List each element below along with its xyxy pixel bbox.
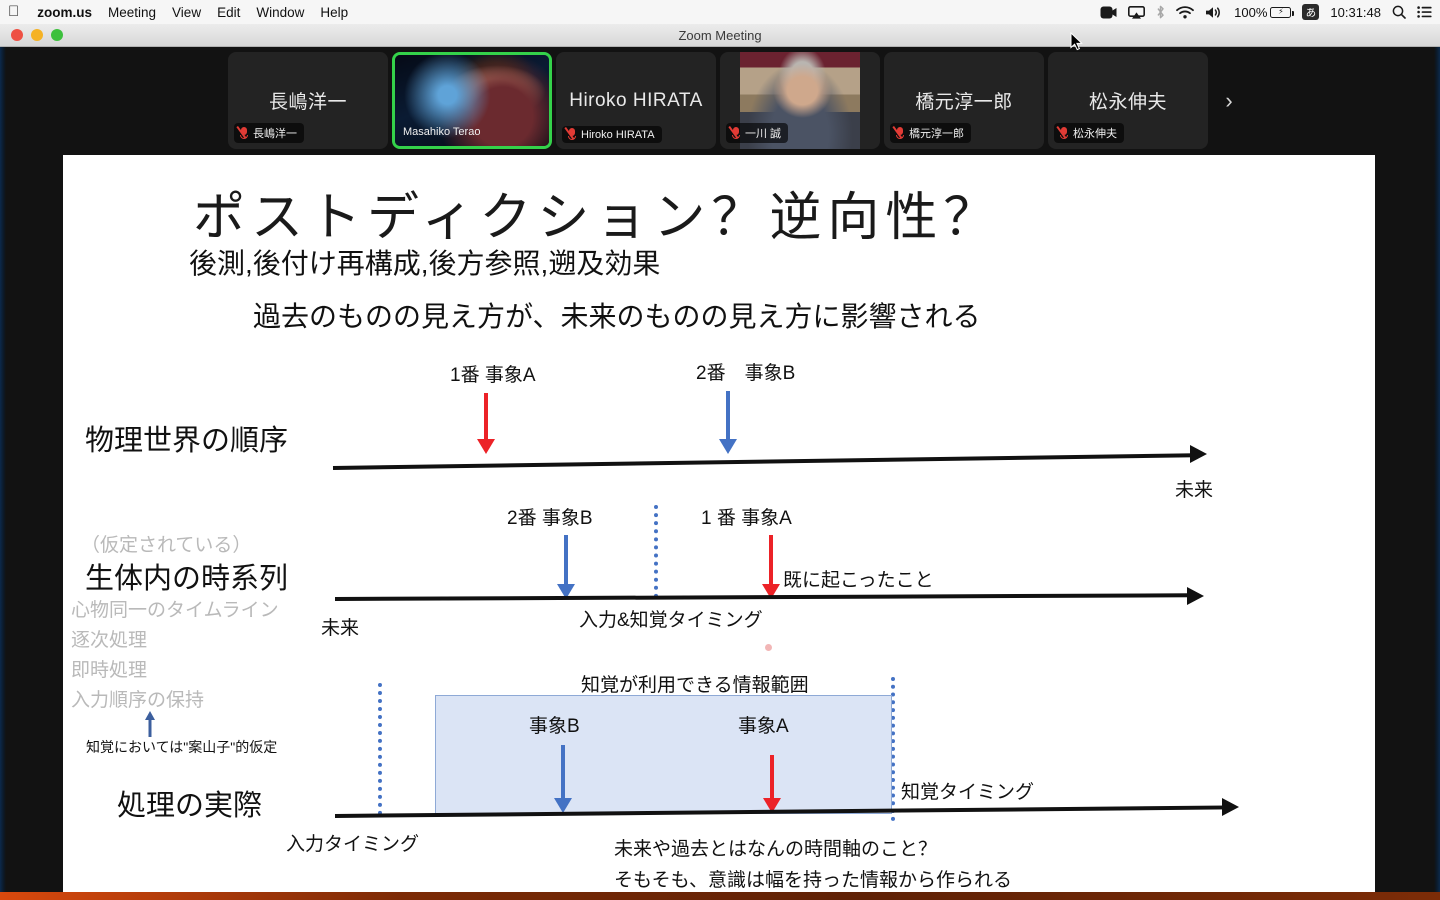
apple-logo-icon[interactable]:  <box>8 4 19 19</box>
close-window-button[interactable] <box>11 29 23 41</box>
section3-information-range-box <box>435 695 892 814</box>
section3-note-line-1: 未来や過去とはなんの時間軸のこと？ <box>614 834 937 861</box>
section1-time-axis <box>333 453 1195 470</box>
filmstrip-next-arrow-icon[interactable]: › <box>1212 52 1246 149</box>
mic-muted-icon <box>731 127 740 140</box>
section3-note-line-2: そもそも、意識は幅を持った情報から作られる <box>614 865 1012 892</box>
minimize-window-button[interactable] <box>31 29 43 41</box>
mic-muted-icon <box>239 127 248 140</box>
window-traffic-lights <box>11 29 63 41</box>
ime-indicator[interactable]: あ <box>1302 4 1319 20</box>
participant-display-name: 橋元淳一郎 <box>909 87 1019 114</box>
participant-tile-hashimoto[interactable]: 橋元淳一郎 橋元淳一郎 <box>884 52 1044 149</box>
participant-name-badge: 一川 誠 <box>726 123 788 143</box>
section3-event-a-label: 事象A <box>738 711 789 738</box>
section3-event-b-arrow <box>554 745 572 815</box>
section2-event-a-label: 1 番 事象A <box>701 503 792 530</box>
participant-badge-name: 一川 誠 <box>745 125 781 141</box>
right-edge-glow <box>1434 47 1440 892</box>
menu-item-view[interactable]: View <box>172 5 201 20</box>
menu-item-window[interactable]: Window <box>256 5 304 20</box>
section3-event-a-arrow <box>763 755 781 815</box>
participant-name-badge: 橋元淳一郎 <box>890 123 971 143</box>
section3-range-label: 知覚が利用できる情報範囲 <box>581 670 809 697</box>
battery-charging-icon: ⚡ <box>1270 7 1291 18</box>
menu-item-edit[interactable]: Edit <box>217 5 240 20</box>
window-title-bar: Zoom Meeting <box>0 24 1440 47</box>
section2-timing-label: 入力&知覚タイミング <box>579 605 763 632</box>
participant-tile-terao[interactable]: Masahiko Terao <box>392 52 552 149</box>
section1-label: 物理世界の順序 <box>85 417 288 459</box>
section1-event-a-label: 1番 事象A <box>450 360 536 387</box>
participant-badge-name: Hiroko HIRATA <box>581 129 655 141</box>
section2-assumed-note: （仮定されている） <box>81 530 251 557</box>
section3-input-timing-label: 入力タイミング <box>286 829 419 856</box>
menu-item-help[interactable]: Help <box>320 5 348 20</box>
section2-gray-line-4: 入力順序の保持 <box>71 685 204 712</box>
section1-event-b-label: 2番 事象B <box>696 358 795 385</box>
participant-name-badge: 長嶋洋一 <box>234 123 304 143</box>
participant-tile-nagashima[interactable]: 長嶋洋一 長嶋洋一 <box>228 52 388 149</box>
section2-gray-line-2: 逐次処理 <box>71 625 147 652</box>
menubar-clock[interactable]: 10:31:48 <box>1330 5 1381 20</box>
spotlight-search-icon[interactable] <box>1392 5 1406 19</box>
participant-name-badge: Hiroko HIRATA <box>562 126 662 143</box>
slide-lead-text: 過去のものの見え方が、未来のものの見え方に影響される <box>253 295 980 335</box>
section1-future-label: 未来 <box>1175 475 1213 502</box>
section2-event-b-label: 2番 事象B <box>507 503 593 530</box>
desktop-bottom-strip <box>0 892 1440 900</box>
section2-future-label: 未来 <box>321 613 359 640</box>
participant-badge-name: 橋元淳一郎 <box>909 125 964 141</box>
laser-pointer-dot <box>765 644 772 651</box>
airplay-icon[interactable] <box>1128 6 1145 19</box>
participant-badge-name: 松永伸夫 <box>1073 125 1117 141</box>
screen:  zoom.us Meeting View Edit Window Help <box>0 0 1440 900</box>
section2-gray-line-1: 心物同一のタイムライン <box>71 595 279 622</box>
bluetooth-icon[interactable] <box>1156 5 1165 19</box>
participant-name-badge: Masahiko Terao <box>401 124 487 140</box>
section2-gray-line-3: 即時処理 <box>71 655 147 682</box>
section3-axis-arrowhead-icon <box>1222 798 1239 816</box>
mic-muted-icon <box>567 128 576 141</box>
mouse-cursor <box>1070 32 1083 51</box>
participant-tile-ichikawa[interactable]: 一川 誠 <box>720 52 880 149</box>
section2-divider-dotted-line <box>654 505 658 598</box>
section2-annotation-text: 知覚においては"案山子"的仮定 <box>86 737 277 757</box>
participant-badge-name: Masahiko Terao <box>403 126 480 138</box>
menu-item-zoom-us[interactable]: zoom.us <box>37 5 92 20</box>
section1-axis-arrowhead-icon <box>1190 445 1207 463</box>
section3-label: 処理の実際 <box>117 782 262 824</box>
left-edge-glow <box>0 47 6 892</box>
maximize-window-button[interactable] <box>51 29 63 41</box>
section1-event-b-arrow <box>719 391 737 456</box>
participant-tile-matsunaga[interactable]: 松永伸夫 松永伸夫 <box>1048 52 1208 149</box>
slide-subtitle: 後測,後付け再構成,後方参照,遡及効果 <box>189 242 660 282</box>
menu-item-meeting[interactable]: Meeting <box>108 5 156 20</box>
section3-input-timing-dotted-line <box>378 683 382 815</box>
window-title-label: Zoom Meeting <box>678 28 761 43</box>
section2-event-b-arrow <box>557 535 575 601</box>
participant-name-badge: 松永伸夫 <box>1054 123 1124 143</box>
section2-already-happened-label: 既に起こったこと <box>783 565 934 592</box>
battery-percent-label: 100% <box>1234 5 1267 20</box>
participant-badge-name: 長嶋洋一 <box>253 125 297 141</box>
slide-title: ポストディクション？逆向性？ <box>193 175 1001 250</box>
section2-annotation-arrow <box>144 711 156 736</box>
battery-status[interactable]: 100% ⚡ <box>1234 5 1291 20</box>
participant-display-name: 長嶋洋一 <box>263 87 353 114</box>
screen-record-icon[interactable] <box>1100 6 1117 19</box>
participant-display-name: Hiroko HIRATA <box>563 90 709 112</box>
shared-screen-slide: ポストディクション？逆向性？ 後測,後付け再構成,後方参照,遡及効果 過去のもの… <box>63 155 1375 892</box>
participant-tile-hirata[interactable]: Hiroko HIRATA Hiroko HIRATA <box>556 52 716 149</box>
volume-icon[interactable] <box>1205 6 1223 19</box>
section3-perception-timing-label: 知覚タイミング <box>901 777 1034 804</box>
control-center-icon[interactable] <box>1417 6 1432 18</box>
mic-muted-icon <box>895 127 904 140</box>
participant-display-name: 松永伸夫 <box>1083 87 1173 114</box>
participant-filmstrip[interactable]: 長嶋洋一 長嶋洋一 Masahiko Terao Hiroko HIRATA H… <box>228 52 1246 149</box>
section2-axis-arrowhead-icon <box>1187 587 1204 605</box>
mic-muted-icon <box>1059 127 1068 140</box>
section2-label: 生体内の時系列 <box>85 555 288 597</box>
wifi-icon[interactable] <box>1176 6 1194 19</box>
section2-event-a-arrow <box>762 535 780 601</box>
section3-event-b-label: 事象B <box>529 711 580 738</box>
macos-menu-bar:  zoom.us Meeting View Edit Window Help <box>0 0 1440 24</box>
section1-event-a-arrow <box>477 393 495 456</box>
